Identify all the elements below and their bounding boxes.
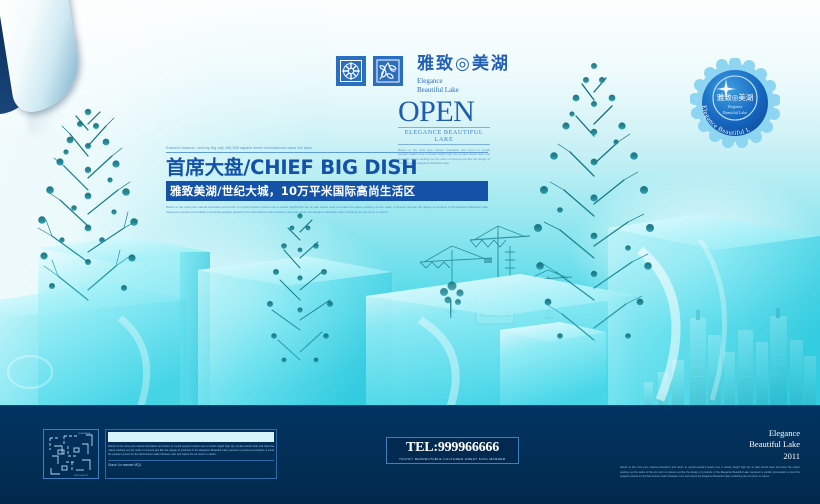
headline-main: 首席大盘/CHIEF BIG DISH	[166, 153, 488, 181]
headline-subbar: 雅致美湖/世纪大城，10万平米国际高尚生活区	[166, 181, 488, 201]
ornamental-rosette-tile-icon	[336, 56, 366, 86]
panel-head-band	[108, 432, 274, 442]
poster-canvas: 雅致◎美湖 Elegance Beautiful Lake OPEN ELEGA…	[0, 0, 820, 504]
headline-block: Graceful manner, century big city 100,00…	[166, 146, 488, 215]
brand-lockup: 雅致◎美湖 Elegance Beautiful Lake	[336, 56, 510, 96]
seal-name-cn: 雅致◎美湖	[717, 92, 754, 102]
footer-year: 2011	[620, 451, 800, 461]
telephone-tagline: HIGHLY RESPECTABLE CULTURED GREAT KING M…	[399, 457, 505, 461]
ornamental-floral-tile-icon	[373, 56, 403, 86]
footer-right-paragraph: Return to the most pure natural orientat…	[620, 466, 800, 479]
brand-name-cn: 雅致◎美湖	[417, 56, 510, 73]
brand-name-en-line1: Elegance	[417, 77, 510, 86]
footer-brand-line1: Elegance	[620, 428, 800, 439]
panel-paragraph: Return to the most pure natural orientat…	[108, 445, 274, 457]
footer-info-panel: Return to the most pure natural orientat…	[105, 429, 277, 479]
panel-caption: Grace Lin manner MQ1	[108, 460, 274, 467]
site-plan-diagram: PLAN AREA SITE LAYOUT	[43, 429, 99, 479]
open-word: OPEN	[398, 98, 490, 126]
svg-text:PLAN AREA: PLAN AREA	[78, 432, 91, 435]
svg-text:SITE LAYOUT: SITE LAYOUT	[74, 474, 89, 477]
open-subtitle: ELEGANCE BEAUTIFUL LAKE	[398, 127, 490, 145]
footer-right-block: Elegance Beautiful Lake 2011 Return to t…	[620, 428, 800, 479]
seal-name-en-line1: Elegance	[728, 104, 743, 109]
seal-name-en-line2: Beautiful Lake	[723, 110, 747, 115]
headline-paragraph: Return to the most pure natural orientat…	[166, 205, 488, 215]
footer-top-hairline	[0, 405, 820, 406]
ice-block-cluster	[0, 214, 820, 410]
telephone-number: TEL:999966666	[406, 441, 499, 455]
telephone-box[interactable]: TEL:999966666 HIGHLY RESPECTABLE CULTURE…	[386, 437, 519, 464]
footer-brand-line2: Beautiful Lake	[620, 439, 800, 450]
quality-seal: 雅致◎美湖 Elegance Beautiful Lake Elegance B…	[690, 58, 780, 148]
